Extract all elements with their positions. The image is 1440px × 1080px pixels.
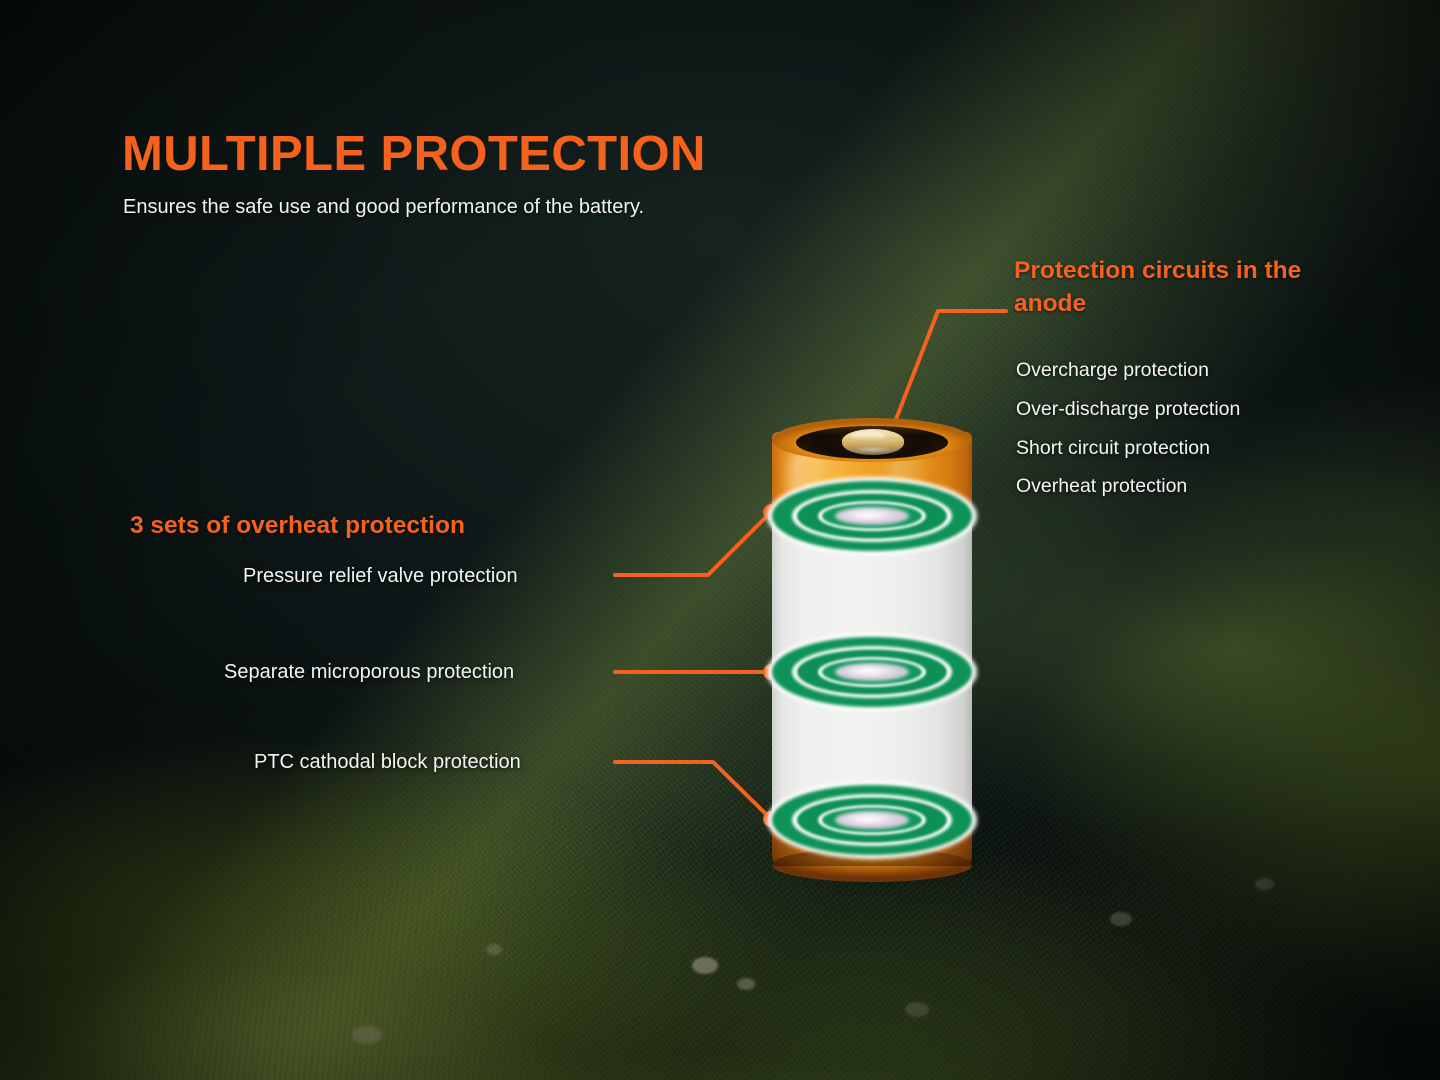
protection-ring-bottom xyxy=(762,772,982,868)
overheat-label-ptc-block: PTC cathodal block protection xyxy=(254,751,521,774)
overheat-label-microporous: Separate microporous protection xyxy=(224,661,514,684)
anode-feature-item: Overheat protection xyxy=(1016,467,1240,506)
anode-feature-item: Overcharge protection xyxy=(1016,351,1240,390)
anode-feature-list: Overcharge protection Over-discharge pro… xyxy=(1016,351,1240,506)
battery-terminal-highlight xyxy=(850,432,886,440)
overheat-heading: 3 sets of overheat protection xyxy=(130,512,465,540)
battery-terminal-ring xyxy=(840,446,906,458)
slide-canvas: MULTIPLE PROTECTION Ensures the safe use… xyxy=(0,0,1440,1080)
anode-heading: Protection circuits in the anode xyxy=(1014,255,1324,320)
battery-illustration xyxy=(770,424,974,872)
anode-feature-item: Over-discharge protection xyxy=(1016,390,1240,429)
overheat-label-pressure-valve: Pressure relief valve protection xyxy=(243,565,518,588)
protection-ring-top xyxy=(762,468,982,564)
anode-feature-item: Short circuit protection xyxy=(1016,429,1240,468)
ring-core xyxy=(835,507,909,525)
page-subtitle: Ensures the safe use and good performanc… xyxy=(123,196,644,219)
protection-ring-middle xyxy=(762,624,982,720)
page-title: MULTIPLE PROTECTION xyxy=(122,126,706,182)
ring-core xyxy=(835,811,909,829)
ring-core xyxy=(835,663,909,681)
